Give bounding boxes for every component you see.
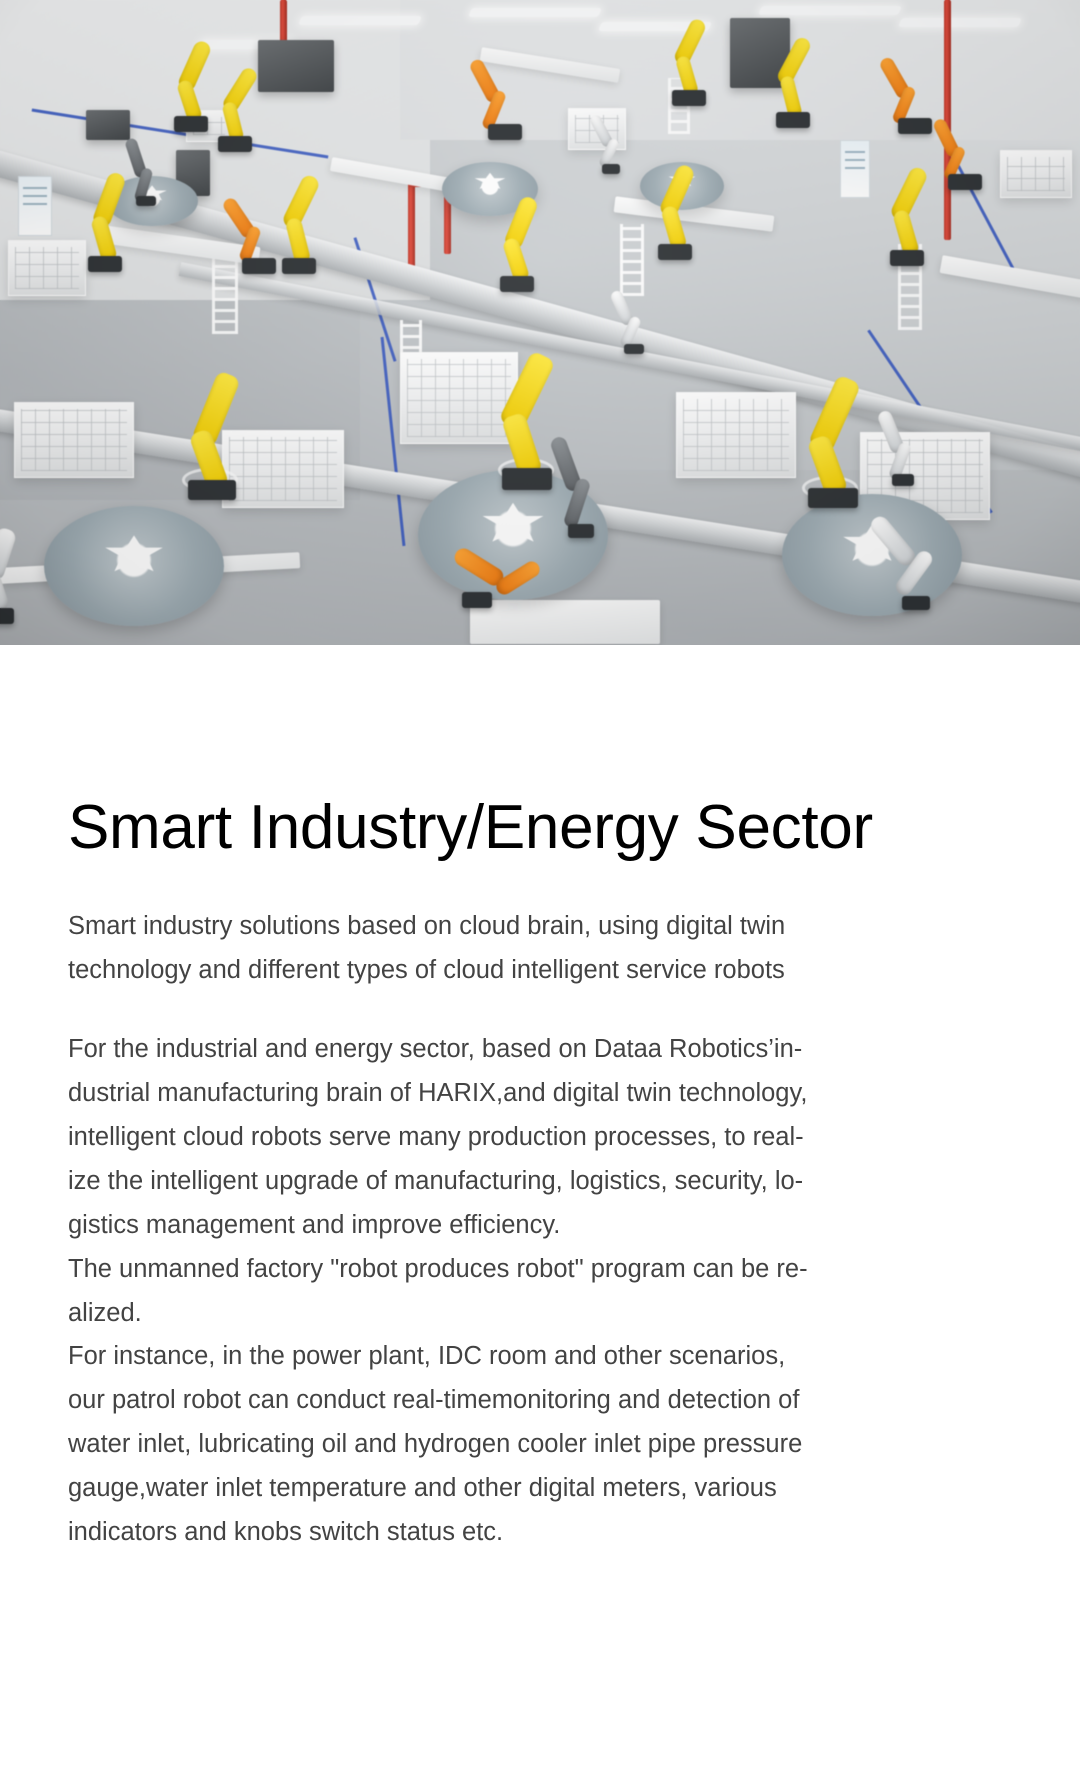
paragraph-line: dustrial manufacturing brain of HARIX,an… [68, 1072, 896, 1116]
wall-poster [18, 176, 52, 236]
platter-hub [474, 173, 507, 191]
rotary-work-platter [782, 494, 962, 616]
paragraph-unmanned-factory: The unmanned factory "robot produces rob… [68, 1248, 896, 1336]
paragraph-line: gauge,water inlet temperature and other … [68, 1467, 896, 1511]
paragraph-line: intelligent cloud robots serve many prod… [68, 1116, 896, 1160]
parts-crate [222, 430, 344, 508]
ceiling-light [468, 8, 602, 17]
factory-scene-illustration [0, 0, 1080, 645]
page-root: Smart Industry/Energy Sector Smart indus… [0, 0, 1080, 1785]
machine-cabinet [258, 40, 334, 92]
paragraph-line: indicators and knobs switch status etc. [68, 1511, 896, 1555]
ceiling-light [898, 18, 1022, 27]
wall-poster [840, 140, 870, 198]
paragraph-line: For instance, in the power plant, IDC ro… [68, 1335, 896, 1379]
article-body: Smart industry solutions based on cloud … [0, 905, 1080, 1555]
paragraph-industrial-energy-sector: For the industrial and energy sector, ba… [68, 1028, 896, 1247]
parts-crate [8, 240, 86, 296]
hero-image [0, 0, 1080, 645]
ceiling-light [758, 6, 902, 15]
paragraph-line: alized. [68, 1292, 896, 1336]
workbench [470, 600, 660, 644]
parts-crate [676, 392, 796, 478]
paragraph-line: For the industrial and energy sector, ba… [68, 1028, 896, 1072]
page-title: Smart Industry/Energy Sector [0, 645, 1080, 861]
paragraph-line: our patrol robot can conduct real-timemo… [68, 1379, 896, 1423]
ceiling-light [298, 16, 422, 25]
lead-paragraph: Smart industry solutions based on cloud … [68, 905, 880, 993]
paragraph-line: The unmanned factory "robot produces rob… [68, 1248, 896, 1292]
equipment-rack [212, 250, 238, 334]
parts-crate [14, 402, 134, 478]
rotary-work-platter [44, 506, 224, 626]
parts-crate [400, 352, 518, 444]
platter-hub [481, 503, 546, 547]
platter-hub [103, 535, 164, 576]
parts-crate [1000, 150, 1072, 198]
equipment-rack [620, 224, 644, 296]
paragraph-line: water inlet, lubricating oil and hydroge… [68, 1423, 896, 1467]
paragraph-line: gistics management and improve efficienc… [68, 1204, 896, 1248]
paragraph-power-plant-idc: For instance, in the power plant, IDC ro… [68, 1335, 896, 1554]
article-content: Smart Industry/Energy Sector Smart indus… [0, 645, 1080, 1555]
machine-cabinet [86, 110, 130, 140]
paragraph-line: ize the intelligent upgrade of manufactu… [68, 1160, 896, 1204]
